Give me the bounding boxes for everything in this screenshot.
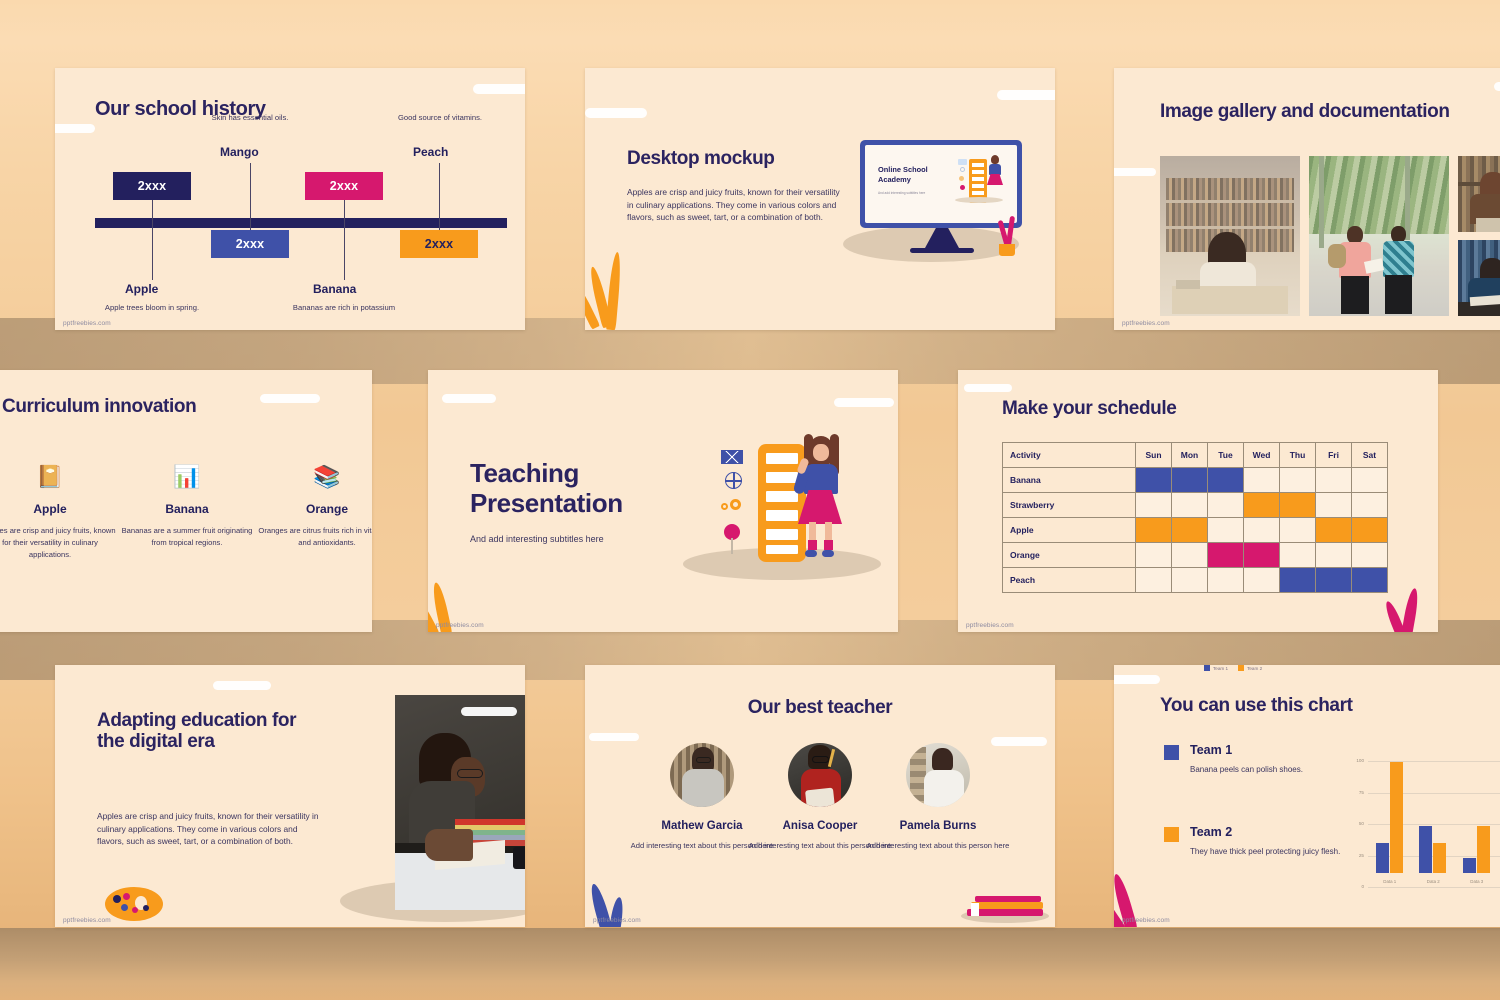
row-activity-label: Peach <box>1003 568 1136 593</box>
schedule-cell-empty[interactable] <box>1316 543 1352 568</box>
gallery-photo[interactable] <box>1160 156 1300 316</box>
flame-decoration-icon <box>606 252 623 330</box>
cloud-decoration <box>1494 82 1500 91</box>
schedule-cell-empty[interactable] <box>1280 468 1316 493</box>
person-face <box>813 444 829 461</box>
timeline-desc: Apple trees bloom in spring. <box>97 302 207 313</box>
timeline-stem <box>439 163 440 233</box>
schedule-cell-empty[interactable] <box>1136 543 1172 568</box>
screen-subtitle: And add interesting subtitles here <box>878 191 925 195</box>
team-desc: Banana peels can polish shoes. <box>1190 764 1349 776</box>
schedule-cell-empty[interactable] <box>1316 468 1352 493</box>
schedule-cell-empty[interactable] <box>1352 493 1388 518</box>
gallery-photo[interactable] <box>1309 156 1449 316</box>
schedule-cell-filled[interactable] <box>1316 518 1352 543</box>
column-header: Tue <box>1208 443 1244 468</box>
table-row: Peach <box>1003 568 1388 593</box>
color-swatch <box>1164 827 1179 842</box>
cloud-decoration <box>213 681 271 690</box>
feature-title: Banana <box>117 502 257 516</box>
team-name: Team 1 <box>1190 743 1349 757</box>
schedule-cell-empty[interactable] <box>1244 568 1280 593</box>
cloud-decoration <box>461 707 517 716</box>
schedule-cell-empty[interactable] <box>1208 518 1244 543</box>
timeline-year-box: 2xxx <box>211 230 289 258</box>
gridline <box>1368 824 1500 825</box>
timeline-year-box: 2xxx <box>400 230 478 258</box>
schedule-cell-empty[interactable] <box>1136 493 1172 518</box>
schedule-cell-filled[interactable] <box>1172 518 1208 543</box>
monitor-screen: Online School Academy And add interestin… <box>865 145 1017 223</box>
chart-bar <box>1419 826 1432 873</box>
cloud-decoration <box>834 398 894 407</box>
timeline-label: Peach <box>413 145 448 159</box>
books-stack-icon: 📚 <box>257 466 372 488</box>
table-row: Orange <box>1003 543 1388 568</box>
schedule-cell-filled[interactable] <box>1352 568 1388 593</box>
schedule-cell-empty[interactable] <box>1244 468 1280 493</box>
screen-heading: Online School Academy <box>878 165 954 185</box>
schedule-cell-filled[interactable] <box>1280 568 1316 593</box>
slide-our-school-history[interactable]: Our school history 2xxx Apple Apple tree… <box>55 68 525 330</box>
row-activity-label: Strawberry <box>1003 493 1136 518</box>
hero-board <box>758 444 806 562</box>
page-title: Desktop mockup <box>627 148 775 169</box>
watermark: pptfreebies.com <box>436 622 484 629</box>
column-header: Wed <box>1244 443 1280 468</box>
column-header: Mon <box>1172 443 1208 468</box>
chart-bar <box>1376 843 1389 873</box>
y-axis-tick: 75 <box>1342 790 1364 795</box>
person-shirt <box>804 464 838 494</box>
teacher-name: Pamela Burns <box>863 820 1013 832</box>
column-header: Activity <box>1003 443 1136 468</box>
schedule-cell-empty[interactable] <box>1352 468 1388 493</box>
gridline <box>1368 887 1500 888</box>
template-showcase-canvas: Our school history 2xxx Apple Apple tree… <box>0 0 1500 1000</box>
cloud-decoration <box>585 108 647 118</box>
y-axis-tick: 100 <box>1342 758 1364 763</box>
books-decoration-icon <box>961 895 1049 921</box>
table-header-row: Activity Sun Mon Tue Wed Thu Fri Sat <box>1003 443 1388 468</box>
page-title: Curriculum innovation <box>2 396 196 417</box>
column-header: Thu <box>1280 443 1316 468</box>
table-row: Apple <box>1003 518 1388 543</box>
timeline-label: Banana <box>313 282 356 296</box>
page-title: Make your schedule <box>1002 398 1176 419</box>
team-name: Team 2 <box>1190 825 1349 839</box>
timeline-label: Apple <box>125 282 158 296</box>
cloud-decoration <box>473 84 525 94</box>
watermark: pptfreebies.com <box>593 917 641 924</box>
feature-desc: Bananas are a summer fruit originating f… <box>117 525 257 549</box>
watermark: pptfreebies.com <box>1122 917 1170 924</box>
schedule-cell-filled[interactable] <box>1316 568 1352 593</box>
feature-column-banana: 📊 Banana Bananas are a summer fruit orig… <box>117 466 257 549</box>
schedule-cell-empty[interactable] <box>1172 543 1208 568</box>
schedule-cell-empty[interactable] <box>1352 543 1388 568</box>
row-activity-label: Banana <box>1003 468 1136 493</box>
gridline <box>1368 761 1500 762</box>
gridline <box>1368 793 1500 794</box>
chart-bar <box>1477 826 1490 873</box>
mail-icon <box>721 450 743 464</box>
cloud-decoration <box>260 394 320 403</box>
page-title-line1: Teaching <box>470 458 579 489</box>
page-title: Image gallery and documentation <box>1160 101 1450 122</box>
chart-bar <box>1433 843 1446 873</box>
schedule-cell-filled[interactable] <box>1172 468 1208 493</box>
slide-chart[interactable]: You can use this chart Team 1 Banana pee… <box>1114 665 1500 927</box>
cloud-decoration <box>55 124 95 133</box>
timeline-stem <box>250 163 251 233</box>
timeline-axis <box>95 218 507 228</box>
x-axis-tick: Data 2 <box>1413 879 1453 884</box>
schedule-cell-empty[interactable] <box>1244 518 1280 543</box>
slide-curriculum-innovation[interactable]: Curriculum innovation 📔 Apple Apples are… <box>0 370 372 632</box>
timeline-year-box: 2xxx <box>113 172 191 200</box>
schedule-cell-filled[interactable] <box>1136 468 1172 493</box>
feature-desc: Apples are crisp and juicy fruits, known… <box>0 525 120 560</box>
screen-illustration-person <box>991 155 999 164</box>
timeline-label: Mango <box>220 145 259 159</box>
slide-desktop-mockup[interactable]: Desktop mockup Apples are crisp and juic… <box>585 68 1055 330</box>
feature-title: Orange <box>257 502 372 516</box>
timeline-desc: Skin has essential oils. <box>195 112 305 123</box>
slide-our-best-teacher[interactable]: Our best teacher Mathew Garcia Add inter… <box>585 665 1055 927</box>
schedule-cell-empty[interactable] <box>1316 493 1352 518</box>
timeline-desc: Good source of vitamins. <box>385 112 495 123</box>
body-paragraph: Apples are crisp and juicy fruits, known… <box>627 186 842 224</box>
table-row: Strawberry <box>1003 493 1388 518</box>
chart-legend: Team 1Team 2 <box>1204 665 1262 671</box>
schedule-table[interactable]: Activity Sun Mon Tue Wed Thu Fri Sat Ban… <box>1002 442 1388 593</box>
slide-adapting-education[interactable]: Adapting education for the digital era A… <box>55 665 525 927</box>
avatar <box>906 743 970 807</box>
monitor-frame: Online School Academy And add interestin… <box>860 140 1022 228</box>
legend-team-1: Team 1 Banana peels can polish shoes. <box>1164 743 1349 776</box>
palette-icon <box>105 887 163 921</box>
chart-legend-item: Team 1 <box>1204 665 1228 671</box>
cloud-decoration <box>1114 168 1156 176</box>
cloud-decoration <box>964 384 1012 392</box>
page-subtitle: And add interesting subtitles here <box>470 533 604 547</box>
plant-pot-icon <box>999 244 1015 256</box>
background-band-lower <box>0 928 1500 1000</box>
x-axis-tick: Data 3 <box>1457 879 1497 884</box>
schedule-cell-empty[interactable] <box>1280 543 1316 568</box>
y-axis-tick: 50 <box>1342 821 1364 826</box>
schedule-cell-empty[interactable] <box>1208 568 1244 593</box>
schedule-cell-filled[interactable] <box>1208 468 1244 493</box>
column-header: Sat <box>1352 443 1388 468</box>
timeline-stem <box>152 200 153 280</box>
photo-student-reading[interactable] <box>395 695 525 910</box>
teacher-card[interactable]: Pamela Burns Add interesting text about … <box>863 743 1013 851</box>
cloud-decoration <box>589 733 639 741</box>
avatar <box>788 743 852 807</box>
gallery-photo[interactable] <box>1458 156 1500 232</box>
schedule-cell-filled[interactable] <box>1352 518 1388 543</box>
teacher-icon: 📊 <box>117 466 257 488</box>
watermark: pptfreebies.com <box>966 622 1014 629</box>
ring-icon <box>721 503 728 510</box>
schedule-cell-filled[interactable] <box>1208 543 1244 568</box>
y-axis-tick: 25 <box>1342 853 1364 858</box>
slide-teaching-presentation-cover[interactable]: Teaching Presentation And add interestin… <box>428 370 898 632</box>
column-header: Fri <box>1316 443 1352 468</box>
page-title: Our best teacher <box>585 697 1055 718</box>
gallery-photo[interactable] <box>1458 240 1500 316</box>
color-swatch <box>1164 745 1179 760</box>
globe-icon <box>725 472 742 489</box>
page-title-line2: Presentation <box>470 488 623 519</box>
slide-make-your-schedule[interactable]: Make your schedule Activity Sun Mon Tue … <box>958 370 1438 632</box>
watermark: pptfreebies.com <box>1122 320 1170 327</box>
chart-legend-item: Team 2 <box>1238 665 1262 671</box>
leaf-decoration-icon <box>1401 587 1421 632</box>
schedule-table-body: BananaStrawberryAppleOrangePeach <box>1003 468 1388 593</box>
teacher-desc: Add interesting text about this person h… <box>863 840 1013 851</box>
bar-chart-plot: 0255075100Data 1Data 2Data 3Data 4 <box>1342 747 1500 887</box>
chart-bar <box>1390 762 1403 873</box>
feature-column-apple: 📔 Apple Apples are crisp and juicy fruit… <box>0 466 120 560</box>
page-title: You can use this chart <box>1160 695 1353 716</box>
avatar <box>670 743 734 807</box>
y-axis-tick: 0 <box>1342 884 1364 889</box>
schedule-cell-empty[interactable] <box>1208 493 1244 518</box>
x-axis-tick: Data 1 <box>1370 879 1410 884</box>
schedule-cell-filled[interactable] <box>1244 543 1280 568</box>
timeline-desc: Bananas are rich in potassium <box>289 302 399 313</box>
row-activity-label: Apple <box>1003 518 1136 543</box>
schedule-cell-empty[interactable] <box>1172 568 1208 593</box>
schedule-cell-filled[interactable] <box>1136 518 1172 543</box>
timeline-stem <box>344 200 345 280</box>
schedule-cell-filled[interactable] <box>1244 493 1280 518</box>
cloud-decoration <box>997 90 1055 100</box>
legend-team-2: Team 2 They have thick peel protecting j… <box>1164 825 1349 858</box>
watermark: pptfreebies.com <box>63 917 111 924</box>
feature-title: Apple <box>0 502 120 516</box>
cloud-decoration <box>442 394 496 403</box>
column-header: Sun <box>1136 443 1172 468</box>
table-row: Banana <box>1003 468 1388 493</box>
row-activity-label: Orange <box>1003 543 1136 568</box>
body-paragraph: Apples are crisp and juicy fruits, known… <box>97 810 323 848</box>
page-title: Adapting education for the digital era <box>97 710 312 753</box>
team-desc: They have thick peel protecting juicy fl… <box>1190 846 1349 858</box>
watermark: pptfreebies.com <box>63 320 111 327</box>
timeline-year-box: 2xxx <box>305 172 383 200</box>
slide-image-gallery[interactable]: Image gallery and documentation <box>1114 68 1500 330</box>
schedule-cell-empty[interactable] <box>1280 518 1316 543</box>
ring-icon <box>730 499 741 510</box>
monitor-base <box>910 248 974 253</box>
schedule-cell-empty[interactable] <box>1136 568 1172 593</box>
book-icon: 📔 <box>0 466 120 488</box>
chart-bar <box>1463 858 1476 873</box>
feature-desc: Oranges are citrus fruits rich in vitami… <box>257 525 372 549</box>
cloud-decoration <box>1114 675 1160 684</box>
schedule-cell-filled[interactable] <box>1280 493 1316 518</box>
feature-column-orange: 📚 Orange Oranges are citrus fruits rich … <box>257 466 372 549</box>
schedule-cell-empty[interactable] <box>1172 493 1208 518</box>
